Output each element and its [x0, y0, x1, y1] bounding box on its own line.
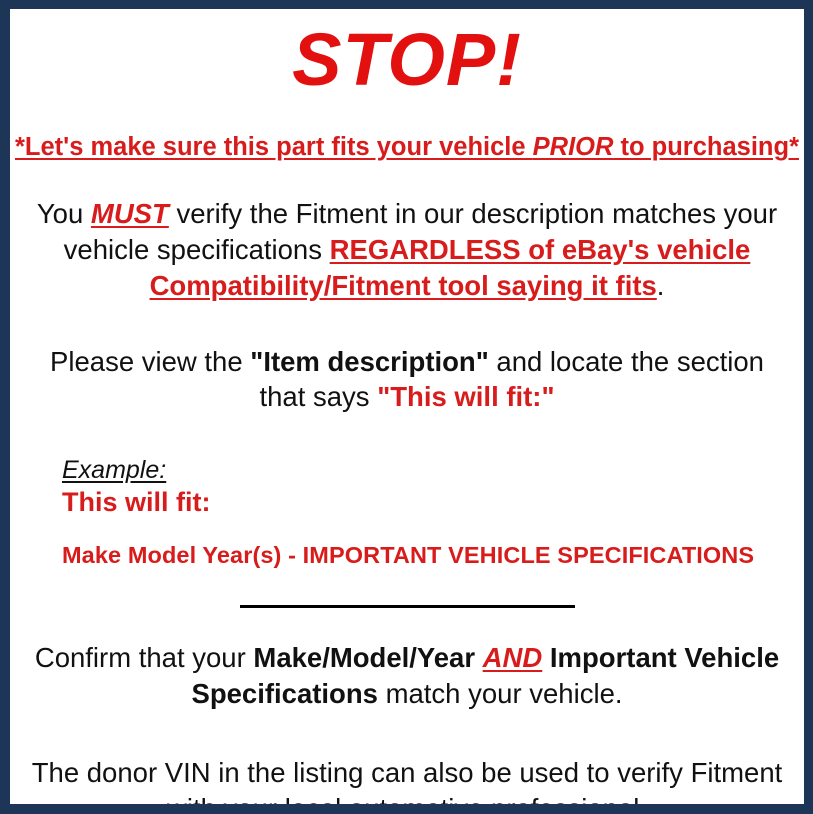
subtitle-part2: to purchasing*	[613, 133, 799, 161]
confirm-paragraph: Confirm that your Make/Model/Year AND Im…	[10, 640, 804, 712]
divider-wrap	[10, 595, 804, 613]
confirm-seg2: match your vehicle.	[378, 678, 623, 709]
subtitle-part1: *Let's make sure this part fits your veh…	[15, 133, 533, 161]
example-spec-line: Make Model Year(s) - IMPORTANT VEHICLE S…	[62, 542, 804, 569]
horizontal-divider	[240, 605, 575, 608]
must-seg1: You	[37, 198, 91, 229]
confirm-bold-makemodelyear: Make/Model/Year	[253, 642, 482, 673]
item-description-quote: "Item description"	[250, 346, 488, 377]
item-description-paragraph: Please view the "Item description" and l…	[10, 344, 804, 416]
fitment-warning-poster: STOP! *Let's make sure this part fits yo…	[0, 0, 813, 814]
must-verify-paragraph: You MUST verify the Fitment in our descr…	[10, 196, 804, 303]
confirm-emphasis-and: AND	[483, 642, 543, 673]
subtitle-banner: *Let's make sure this part fits your veh…	[10, 133, 804, 162]
poster-inner-panel: STOP! *Let's make sure this part fits yo…	[10, 9, 804, 804]
itemdesc-seg1: Please view the	[50, 346, 250, 377]
must-seg3: .	[657, 270, 665, 301]
stop-title: STOP!	[10, 23, 804, 97]
subtitle-emphasis-prior: PRIOR	[533, 133, 614, 161]
example-fit-header: This will fit:	[62, 487, 804, 519]
example-block: Example: This will fit: Make Model Year(…	[10, 457, 804, 569]
example-label-row: Example:	[62, 457, 804, 485]
vin-paragraph: The donor VIN in the listing can also be…	[10, 755, 804, 804]
must-emphasis: MUST	[91, 198, 169, 229]
confirm-seg1: Confirm that your	[35, 642, 254, 673]
this-will-fit-quote: "This will fit:"	[377, 381, 554, 412]
example-label: Example:	[62, 457, 166, 485]
